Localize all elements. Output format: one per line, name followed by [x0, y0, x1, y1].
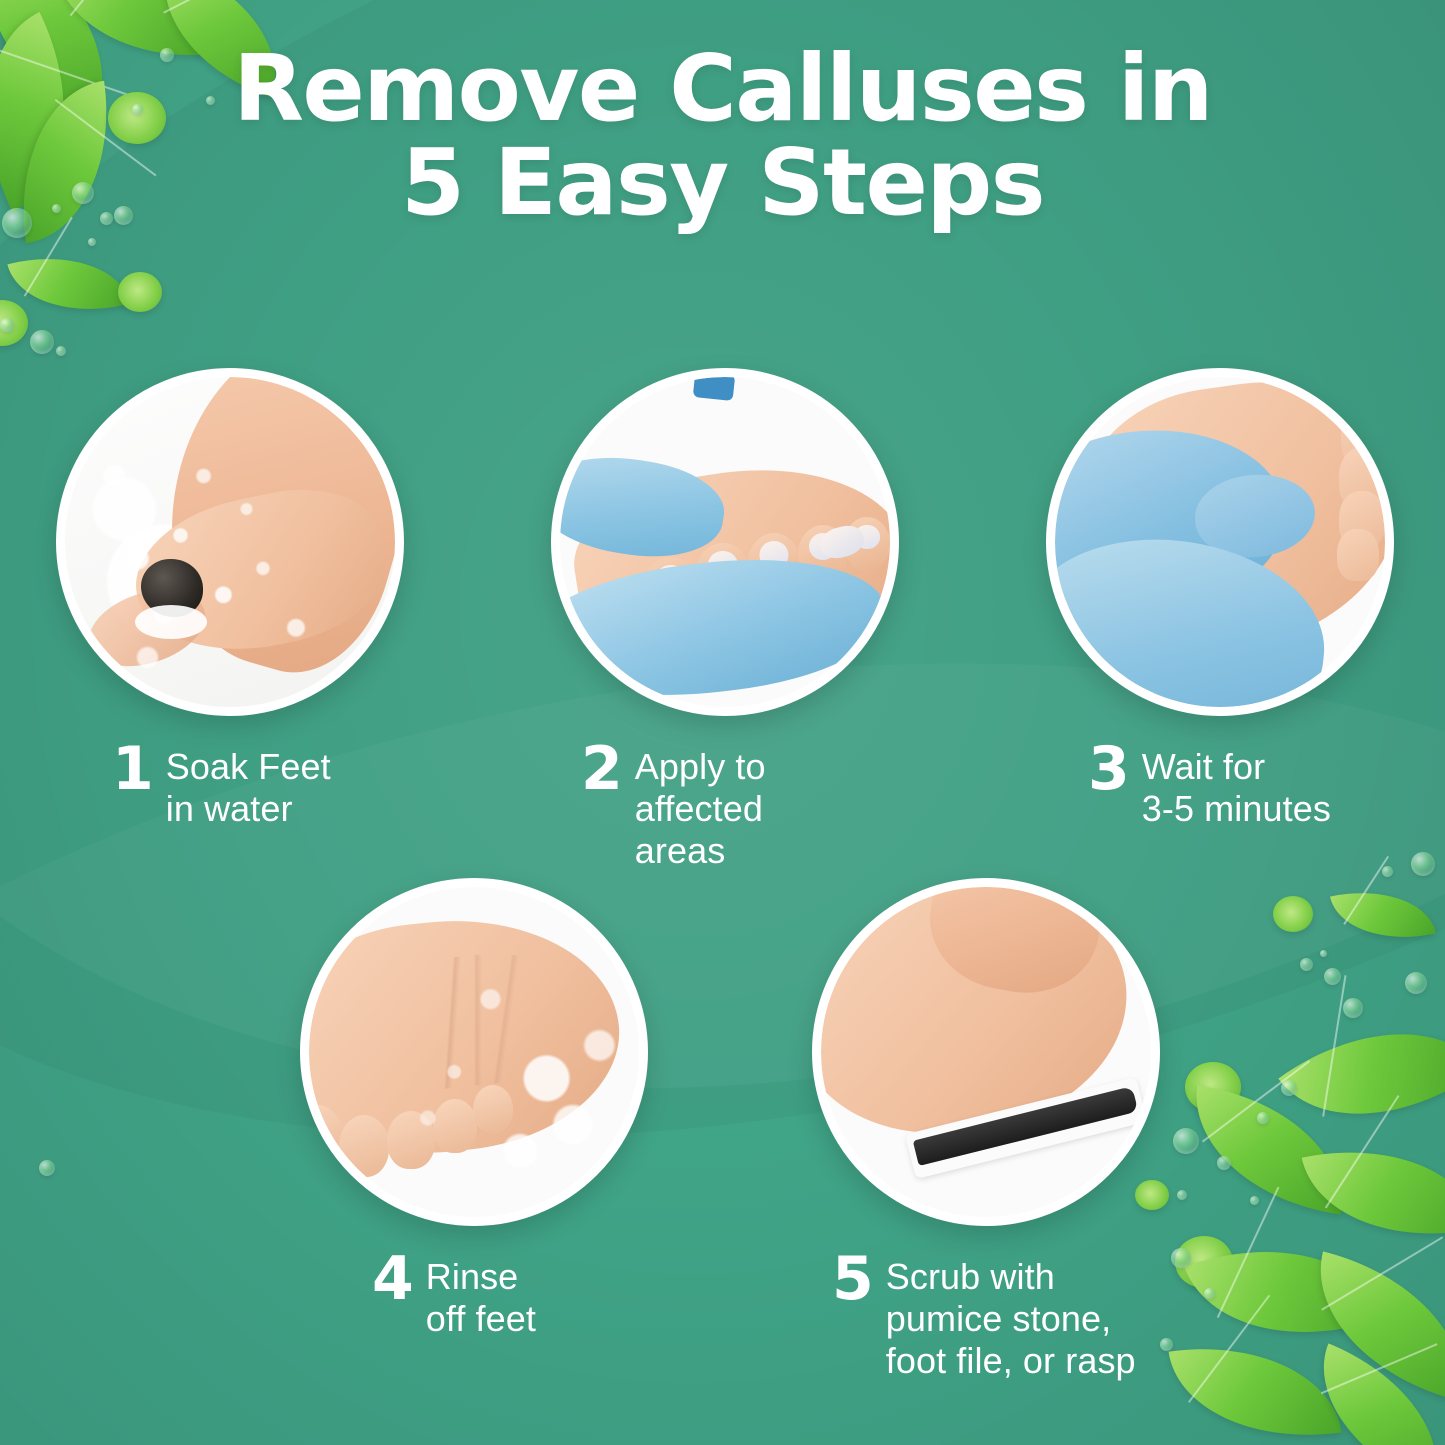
mint-leaf-icon — [1182, 1085, 1355, 1214]
mint-leaf-icon — [1184, 1208, 1385, 1376]
step-5-caption: 5 Scrub with pumice stone, foot file, or… — [812, 1252, 1160, 1381]
step-1-number: 1 — [112, 742, 152, 798]
water-droplet-icon — [88, 238, 96, 246]
water-droplet-icon — [56, 346, 66, 356]
title-line-2: 5 Easy Steps — [0, 136, 1445, 230]
step-5-photo-circle — [812, 878, 1160, 1226]
water-droplet-icon — [1300, 958, 1313, 971]
water-droplet-icon — [1257, 1112, 1269, 1124]
infographic-poster: Remove Calluses in 5 Easy Steps 1 Soak F… — [0, 0, 1445, 1445]
mint-leaf-icon — [1302, 1125, 1445, 1262]
step-4-number: 4 — [372, 1252, 412, 1308]
water-droplet-icon — [1343, 998, 1363, 1018]
mint-leaf-icon — [1292, 1343, 1445, 1445]
water-droplet-icon — [39, 1160, 55, 1176]
step-3-photo-circle — [1046, 368, 1394, 716]
step-2-caption: 2 Apply to affected areas — [551, 742, 899, 871]
water-droplet-icon — [1281, 1080, 1297, 1096]
mint-leaf-icon — [1278, 979, 1445, 1170]
step-3-caption: 3 Wait for 3-5 minutes — [1046, 742, 1394, 830]
mint-leaf-icon — [1169, 1329, 1342, 1445]
step-5-number: 5 — [832, 1252, 872, 1308]
water-droplet-icon — [1250, 1196, 1259, 1205]
gloved-hands-holding-foot-photo — [1055, 377, 1385, 707]
water-droplet-icon — [1171, 1248, 1191, 1268]
title-line-1: Remove Calluses in — [0, 42, 1445, 136]
step-item-2: 2 Apply to affected areas — [551, 368, 899, 871]
foot-soaking-in-water-photo — [65, 377, 395, 707]
step-item-3: 3 Wait for 3-5 minutes — [1046, 368, 1394, 871]
water-droplet-icon — [1405, 972, 1427, 994]
water-droplet-icon — [1217, 1156, 1231, 1170]
step-2-number: 2 — [581, 742, 621, 798]
water-droplet-icon — [1173, 1128, 1199, 1154]
step-3-number: 3 — [1088, 742, 1128, 798]
gloved-hands-applying-to-foot-photo — [560, 377, 890, 707]
step-2-label: Apply to affected areas — [635, 742, 766, 871]
step-4-caption: 4 Rinse off feet — [300, 1252, 648, 1340]
water-droplet-icon — [1177, 1190, 1187, 1200]
water-droplet-icon — [0, 318, 14, 332]
mint-leaf-icon — [1296, 1251, 1445, 1400]
step-5-label: Scrub with pumice stone, foot file, or r… — [886, 1252, 1136, 1381]
step-3-label: Wait for 3-5 minutes — [1142, 742, 1331, 830]
steps-row-bottom: 4 Rinse off feet 5 Scrub with pumice sto… — [300, 878, 1160, 1381]
mint-leaf-round-icon — [1175, 1236, 1233, 1288]
heel-with-foot-file-photo — [821, 887, 1151, 1217]
water-droplet-icon — [30, 330, 54, 354]
step-1-photo-circle — [56, 368, 404, 716]
step-1-label: Soak Feet in water — [166, 742, 331, 830]
water-droplet-icon — [1204, 1288, 1215, 1299]
water-droplet-icon — [1324, 968, 1341, 985]
step-item-1: 1 Soak Feet in water — [56, 368, 404, 871]
steps-row-top: 1 Soak Feet in water — [56, 368, 1394, 871]
step-4-photo-circle — [300, 878, 648, 1226]
page-title: Remove Calluses in 5 Easy Steps — [0, 42, 1445, 230]
mint-leaf-round-icon — [1185, 1062, 1241, 1112]
step-item-4: 4 Rinse off feet — [300, 878, 648, 1381]
mint-leaf-icon — [7, 238, 130, 331]
step-4-label: Rinse off feet — [426, 1252, 536, 1340]
mint-leaf-icon — [1330, 877, 1436, 954]
water-droplet-icon — [1411, 852, 1435, 876]
foot-rinsing-under-water-photo — [309, 887, 639, 1217]
mint-leaf-round-icon — [0, 300, 28, 346]
water-droplet-icon — [1320, 950, 1327, 957]
mint-leaf-round-icon — [1273, 896, 1313, 932]
step-2-photo-circle — [551, 368, 899, 716]
water-droplet-icon — [1160, 1338, 1173, 1351]
step-item-5: 5 Scrub with pumice stone, foot file, or… — [812, 878, 1160, 1381]
step-1-caption: 1 Soak Feet in water — [56, 742, 404, 830]
mint-leaf-round-icon — [118, 272, 162, 312]
